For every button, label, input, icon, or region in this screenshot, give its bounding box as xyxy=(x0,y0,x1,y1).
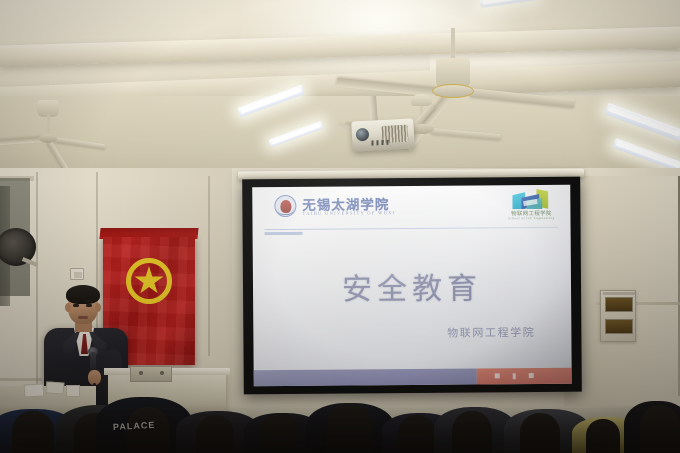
presenter-eye xyxy=(86,304,92,307)
presenter-ear xyxy=(65,303,71,312)
ceiling-projector-icon xyxy=(351,118,414,151)
projector-controls xyxy=(371,140,391,146)
seal-arc xyxy=(276,207,294,214)
panel-window xyxy=(605,297,633,312)
header-divider xyxy=(265,227,559,230)
fan-rod xyxy=(47,114,50,136)
fan-rod xyxy=(451,28,455,60)
presenter-eye xyxy=(73,304,79,307)
presenter-mouth xyxy=(78,316,88,319)
iot-school-logo-icon: 物联网工程学院 School of IoT Engineering xyxy=(506,189,556,223)
slide-header: 无锡太湖学院 TAIHU UNIVERSITY OF WUXI 物联网工程学院 … xyxy=(252,185,570,227)
slide-title: 安全教育 xyxy=(253,263,571,309)
ceiling-lower-plane xyxy=(0,96,680,176)
electrical-panel-icon xyxy=(600,290,636,342)
wall-fan-icon xyxy=(0,228,42,272)
wall-seam xyxy=(208,176,210,356)
presenter-ear xyxy=(95,303,101,312)
presenter-eyebrow xyxy=(85,300,93,302)
panel-cap xyxy=(603,292,635,295)
seated-audience: PALACE xyxy=(0,358,680,453)
fan-hub xyxy=(39,134,57,143)
panel-window xyxy=(605,319,633,334)
iot-logo-mark xyxy=(512,189,554,209)
university-name-en: TAIHU UNIVERSITY OF WUXI xyxy=(302,210,395,216)
slide-subtitle: 物联网工程学院 xyxy=(447,324,535,341)
wall-socket-icon xyxy=(70,268,84,280)
classroom-photo: 无锡太湖学院 TAIHU UNIVERSITY OF WUXI 物联网工程学院 … xyxy=(0,0,680,453)
presentation-slide: 无锡太湖学院 TAIHU UNIVERSITY OF WUXI 物联网工程学院 … xyxy=(252,185,572,386)
projector-lens xyxy=(356,128,370,142)
iot-logo-text-en: School of IoT Engineering xyxy=(506,216,556,220)
foreground-shadow xyxy=(0,405,680,453)
fan-hub xyxy=(432,84,474,98)
university-seal-icon xyxy=(274,195,296,217)
header-accent-bar xyxy=(265,232,303,235)
presenter-eyebrow xyxy=(72,300,80,302)
